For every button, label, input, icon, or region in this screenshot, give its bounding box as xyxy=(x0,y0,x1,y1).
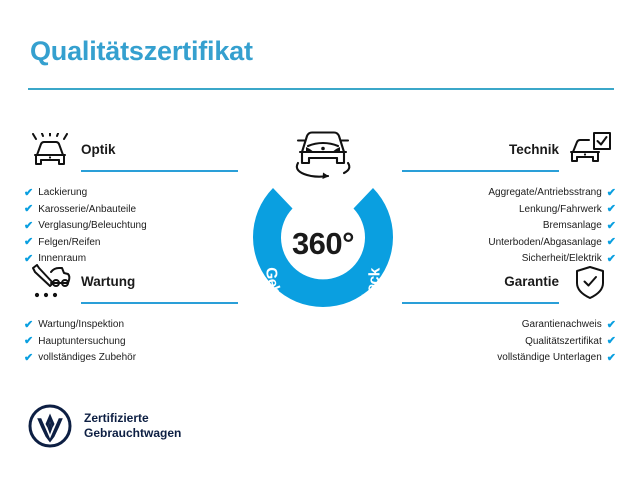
car-shine-icon xyxy=(24,130,76,172)
check-icon: ✔ xyxy=(607,320,616,331)
section-title: Garantie xyxy=(504,274,559,289)
list-item-label: Hauptuntersuchung xyxy=(38,334,125,351)
section-garantie: Garantie Garantienachweis✔ Qualitätszert… xyxy=(402,262,616,367)
list-item: Unterboden/Abgasanlage✔ xyxy=(402,235,616,252)
list-item: vollständige Unterlagen✔ xyxy=(402,350,616,367)
footer-line-2: Gebrauchtwagen xyxy=(84,426,181,442)
check-icon: ✔ xyxy=(24,336,33,347)
list-item: ✔vollständiges Zubehör xyxy=(24,350,238,367)
footer-brand: Zertifizierte Gebrauchtwagen xyxy=(28,404,181,448)
quality-certificate-page: Qualitätszertifikat Optik xyxy=(0,0,640,480)
section-technik: Technik Aggregate/Antriebsstrang✔ Lenkun… xyxy=(402,130,616,268)
car-service-tool-icon xyxy=(24,262,76,304)
section-header: Garantie xyxy=(402,262,616,304)
check-icon: ✔ xyxy=(607,353,616,364)
list-item-label: Karosserie/Anbauteile xyxy=(38,202,136,219)
list-item-label: Felgen/Reifen xyxy=(38,235,100,252)
page-title: Qualitätszertifikat xyxy=(30,36,253,67)
list-item-label: Aggregate/Antriebsstrang xyxy=(488,185,601,202)
check-icon: ✔ xyxy=(607,237,616,248)
list-item: ✔Verglasung/Beleuchtung xyxy=(24,218,238,235)
list-item-label: Bremsanlage xyxy=(543,218,602,235)
list-item: ✔Hauptuntersuchung xyxy=(24,334,238,351)
section-header: Wartung xyxy=(24,262,238,304)
section-optik: Optik ✔Lackierung ✔Karosserie/Anbauteile… xyxy=(24,130,238,268)
check-icon: ✔ xyxy=(24,320,33,331)
checklist: ✔Lackierung ✔Karosserie/Anbauteile ✔Verg… xyxy=(24,185,238,268)
section-title: Wartung xyxy=(81,274,135,289)
section-wartung: Wartung ✔Wartung/Inspektion ✔Hauptunters… xyxy=(24,262,238,367)
section-divider xyxy=(402,302,559,304)
check-icon: ✔ xyxy=(24,188,33,199)
badge-value: 360° xyxy=(228,226,418,262)
footer-line-1: Zertifizierte xyxy=(84,411,181,427)
check-icon: ✔ xyxy=(607,336,616,347)
section-title: Technik xyxy=(509,142,559,157)
list-item-label: Garantienachweis xyxy=(522,317,602,334)
list-item: ✔Karosserie/Anbauteile xyxy=(24,202,238,219)
list-item: ✔Felgen/Reifen xyxy=(24,235,238,252)
section-header: Technik xyxy=(402,130,616,172)
vw-logo xyxy=(28,404,72,448)
check-icon: ✔ xyxy=(607,188,616,199)
car-checkbox-icon xyxy=(564,130,616,172)
section-title: Optik xyxy=(81,142,116,157)
list-item-label: Lenkung/Fahrwerk xyxy=(519,202,602,219)
list-item-label: Verglasung/Beleuchtung xyxy=(38,218,146,235)
section-divider xyxy=(81,302,238,304)
list-item: Lenkung/Fahrwerk✔ xyxy=(402,202,616,219)
title-divider xyxy=(28,88,614,90)
list-item-label: Lackierung xyxy=(38,185,87,202)
list-item-label: vollständige Unterlagen xyxy=(497,350,602,367)
section-divider xyxy=(81,170,238,172)
list-item-label: Qualitätszertifikat xyxy=(525,334,602,351)
list-item: ✔Wartung/Inspektion xyxy=(24,317,238,334)
checklist: ✔Wartung/Inspektion ✔Hauptuntersuchung ✔… xyxy=(24,317,238,367)
check-icon: ✔ xyxy=(24,237,33,248)
list-item: Garantienachweis✔ xyxy=(402,317,616,334)
list-item: Qualitätszertifikat✔ xyxy=(402,334,616,351)
checklist: Aggregate/Antriebsstrang✔ Lenkung/Fahrwe… xyxy=(402,185,616,268)
badge-360-check: Gebrauchtwagen-Check 360° xyxy=(228,122,418,322)
check-icon: ✔ xyxy=(607,204,616,215)
list-item: Bremsanlage✔ xyxy=(402,218,616,235)
check-icon: ✔ xyxy=(24,221,33,232)
footer-text: Zertifizierte Gebrauchtwagen xyxy=(84,411,181,442)
section-header: Optik xyxy=(24,130,238,172)
list-item-label: vollständiges Zubehör xyxy=(38,350,136,367)
section-divider xyxy=(402,170,559,172)
list-item: Aggregate/Antriebsstrang✔ xyxy=(402,185,616,202)
list-item-label: Unterboden/Abgasanlage xyxy=(488,235,601,252)
check-icon: ✔ xyxy=(24,353,33,364)
check-icon: ✔ xyxy=(24,204,33,215)
check-icon: ✔ xyxy=(607,221,616,232)
list-item: ✔Lackierung xyxy=(24,185,238,202)
shield-check-icon xyxy=(564,262,616,304)
list-item-label: Wartung/Inspektion xyxy=(38,317,124,334)
checklist: Garantienachweis✔ Qualitätszertifikat✔ v… xyxy=(402,317,616,367)
